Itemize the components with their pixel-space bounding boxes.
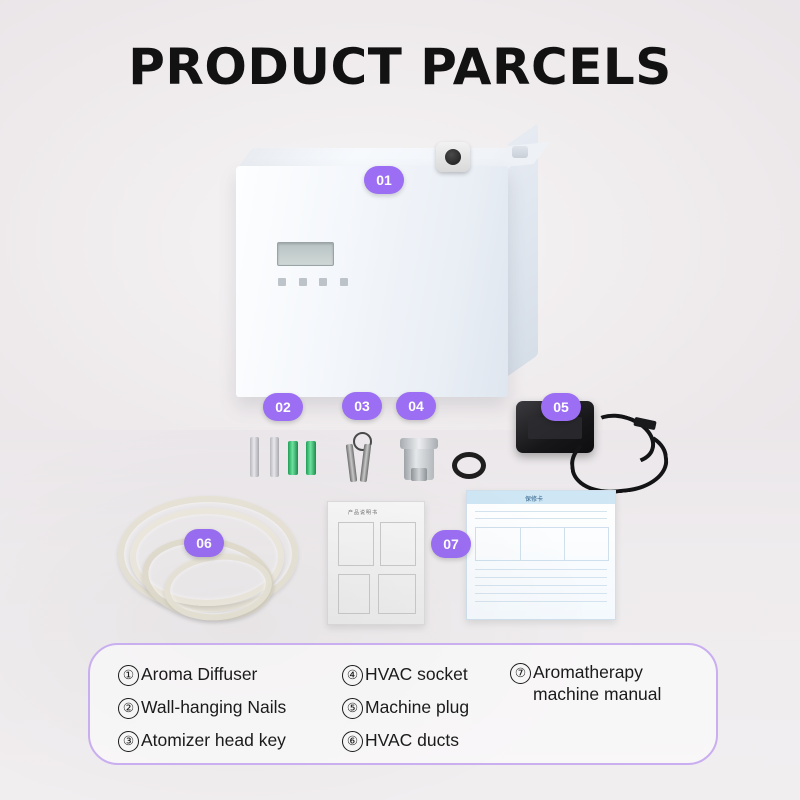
- wall-anchor-2: [306, 441, 316, 475]
- warranty-card-line-5: [475, 585, 607, 586]
- warranty-card-header: 保修卡: [467, 491, 615, 504]
- rubber-o-ring: [452, 452, 486, 479]
- badge-04-socket[interactable]: 04: [396, 392, 436, 420]
- legend-number-2: ②: [118, 698, 139, 719]
- diffuser-air-nozzle: [512, 146, 528, 158]
- legend-item-2: ② Wall-hanging Nails: [118, 696, 286, 719]
- diffuser-front-panel: [236, 166, 508, 397]
- badge-03-key[interactable]: 03: [342, 392, 382, 420]
- product-manual-leaflet: 产品说明书: [327, 501, 425, 625]
- warranty-card-line-1: [475, 511, 607, 512]
- warranty-card-line-4: [475, 577, 607, 578]
- legend-label-7: Aromatherapy machine manual: [533, 661, 710, 705]
- nail-screw-1: [250, 437, 259, 477]
- legend-number-7: ⑦: [510, 663, 531, 684]
- warranty-card-line-7: [475, 601, 607, 602]
- warranty-card: 保修卡: [466, 490, 616, 620]
- legend-label-3: Atomizer head key: [141, 729, 286, 751]
- legend-item-5: ⑤ Machine plug: [342, 696, 469, 719]
- diffuser-button-row: [278, 276, 348, 288]
- legend-column-left: ① Aroma Diffuser ② Wall-hanging Nails ③ …: [118, 663, 286, 762]
- legend-item-7: ⑦ Aromatherapy machine manual: [510, 661, 710, 705]
- legend-label-1: Aroma Diffuser: [141, 663, 257, 685]
- legend-column-middle: ④ HVAC socket ⑤ Machine plug ⑥ HVAC duct…: [342, 663, 469, 762]
- product-photo: PRODUCT PARCELS: [0, 0, 800, 800]
- badge-01-diffuser[interactable]: 01: [364, 166, 404, 194]
- legend-item-4: ④ HVAC socket: [342, 663, 469, 686]
- diffuser-button-power: [278, 278, 286, 286]
- diffuser-oil-cap: [436, 142, 470, 172]
- hvac-socket: [404, 438, 434, 480]
- leaflet-title: 产品说明书: [348, 509, 378, 516]
- legend-number-5: ⑤: [342, 698, 363, 719]
- diffuser-display: [277, 242, 334, 266]
- legend-item-3: ③ Atomizer head key: [118, 729, 286, 752]
- wall-anchor-1: [288, 441, 298, 475]
- leaflet-figure-2: [380, 522, 416, 566]
- legend-number-6: ⑥: [342, 731, 363, 752]
- wall-anchors: [288, 441, 328, 477]
- diffuser-button-down: [340, 278, 348, 286]
- legend-number-1: ①: [118, 665, 139, 686]
- leaflet-figure-3: [338, 574, 370, 614]
- badge-07-manual[interactable]: 07: [431, 530, 471, 558]
- key-1: [346, 444, 358, 483]
- leaflet-figure-4: [378, 574, 416, 614]
- warranty-card-line-2: [475, 518, 607, 519]
- legend-label-5: Machine plug: [365, 696, 469, 718]
- machine-plug-adapter: [506, 399, 656, 485]
- legend-label-6: HVAC ducts: [365, 729, 459, 751]
- hvac-ducts-coil: [112, 492, 302, 622]
- diffuser-button-menu: [299, 278, 307, 286]
- legend-panel: ① Aroma Diffuser ② Wall-hanging Nails ③ …: [88, 643, 718, 765]
- legend-column-right: ⑦ Aromatherapy machine manual: [510, 661, 710, 715]
- atomizer-head-key: [340, 432, 384, 484]
- leaflet-figure-1: [338, 522, 374, 566]
- warranty-card-table-divider-2: [564, 528, 565, 560]
- badge-05-plug[interactable]: 05: [541, 393, 581, 421]
- legend-label-2: Wall-hanging Nails: [141, 696, 286, 718]
- legend-item-6: ⑥ HVAC ducts: [342, 729, 469, 752]
- warranty-card-title: 保修卡: [525, 494, 543, 503]
- page-title: PRODUCT PARCELS: [0, 38, 800, 96]
- warranty-card-table: [475, 527, 609, 561]
- diffuser-button-up: [319, 278, 327, 286]
- nail-screw-2: [270, 437, 279, 477]
- badge-02-nails[interactable]: 02: [263, 393, 303, 421]
- warranty-card-line-6: [475, 593, 607, 594]
- warranty-card-line-3: [475, 569, 607, 570]
- legend-number-3: ③: [118, 731, 139, 752]
- warranty-card-table-divider-1: [520, 528, 521, 560]
- legend-label-4: HVAC socket: [365, 663, 468, 685]
- legend-number-4: ④: [342, 665, 363, 686]
- wall-hanging-nails: [248, 437, 286, 479]
- badge-06-ducts[interactable]: 06: [184, 529, 224, 557]
- legend-item-1: ① Aroma Diffuser: [118, 663, 286, 686]
